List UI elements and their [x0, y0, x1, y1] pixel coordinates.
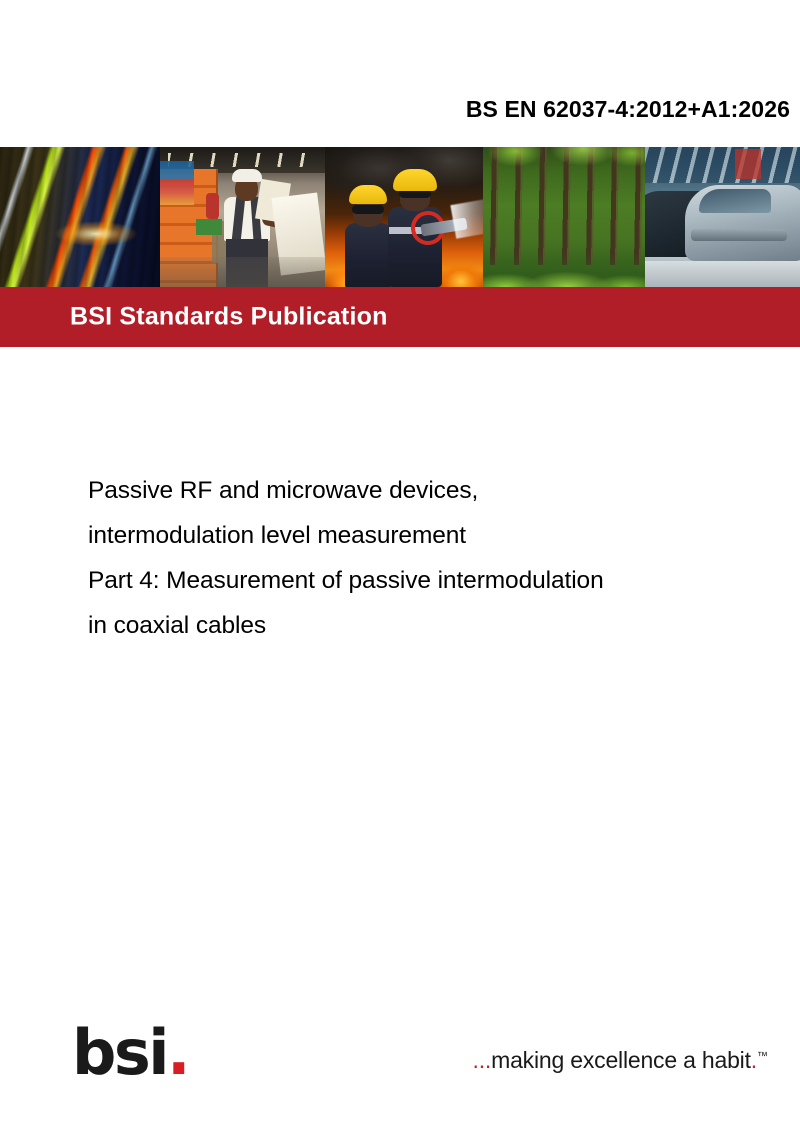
publisher-band-label: BSI Standards Publication: [70, 303, 388, 332]
page-title: Passive RF and microwave devices, interm…: [88, 468, 800, 648]
forest-undergrowth: [483, 253, 645, 287]
firefighter-rear-visor: [352, 205, 384, 214]
factory-red-panel: [735, 149, 761, 179]
title-line-4: in coaxial cables: [88, 603, 800, 648]
bsi-logo: bsi.: [72, 1022, 188, 1084]
banner-photo-warehouse-worker: [160, 147, 325, 287]
bsi-tagline: ...making excellence a habit.™: [473, 1047, 768, 1074]
cover-footer: bsi. ...making excellence a habit.™: [0, 992, 800, 1132]
standard-number: BS EN 62037-4:2012+A1:2026: [466, 96, 790, 123]
warehouse-stacked-bins: [160, 161, 194, 205]
title-line-2: intermodulation level measurement: [88, 513, 800, 558]
car-grille: [691, 229, 787, 241]
factory-floor: [645, 261, 800, 287]
banner-photo-car-production-line: [645, 147, 800, 287]
forest-canopy: [483, 147, 645, 189]
firefighter-front-helmet: [393, 169, 437, 191]
factory-ceiling-lights: [645, 147, 800, 183]
warehouse-green-crate: [196, 219, 222, 235]
publisher-band: BSI Standards Publication: [0, 287, 800, 347]
warehouse-background-person: [206, 193, 219, 219]
bsi-logo-text: bsi: [72, 1016, 167, 1089]
cover-image-banner: [0, 147, 800, 287]
banner-photo-firefighters: [325, 147, 483, 287]
bsi-logo-dot: .: [167, 1016, 188, 1089]
trademark-icon: ™: [757, 1050, 768, 1062]
title-line-1: Passive RF and microwave devices,: [88, 468, 800, 513]
firefighter-rear-helmet: [349, 185, 387, 204]
banner-photo-forest: [483, 147, 645, 287]
tagline-text: making excellence a habit: [491, 1047, 751, 1073]
cover-page: BS EN 62037-4:2012+A1:2026: [0, 0, 800, 1132]
tagline-leading-dots: ...: [473, 1047, 492, 1073]
title-line-3: Part 4: Measurement of passive intermodu…: [88, 558, 800, 603]
car-windshield: [699, 189, 771, 213]
worker-cap: [232, 169, 262, 182]
warehouse-floor: [160, 257, 325, 287]
banner-photo-traffic-light-trails: [0, 147, 160, 287]
water-spray: [450, 197, 483, 238]
